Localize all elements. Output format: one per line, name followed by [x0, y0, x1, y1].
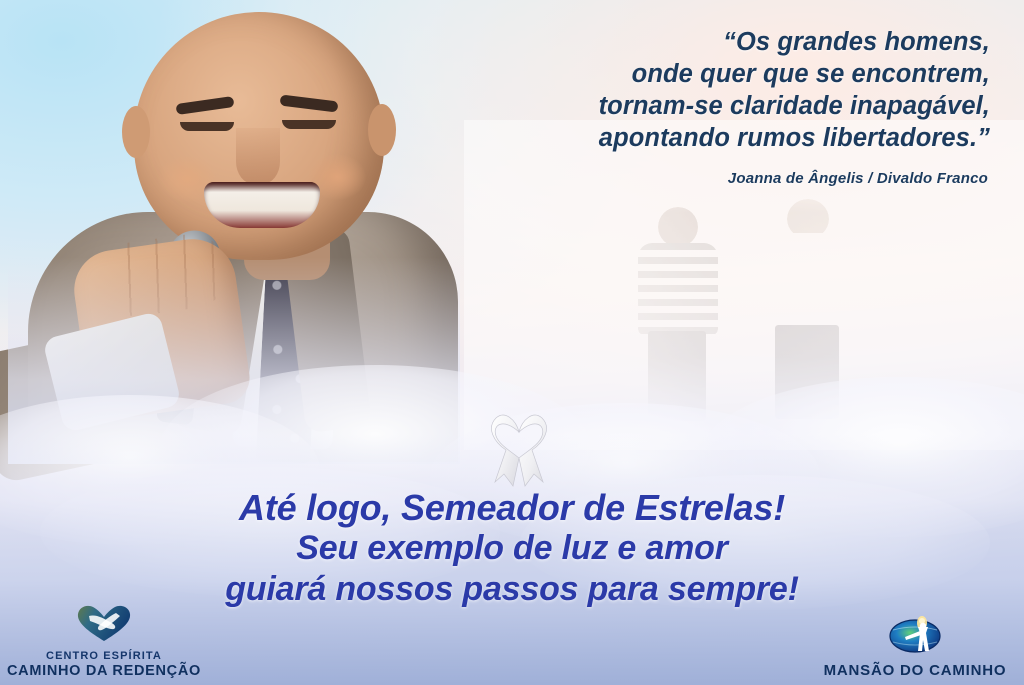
- headline-line-1: Até logo, Semeador de Estrelas!: [0, 487, 1024, 528]
- memorial-poster: “Os grandes homens, onde quer que se enc…: [0, 0, 1024, 685]
- quote-line-2: onde quer que se encontrem,: [632, 60, 990, 88]
- logo-left-line-2: CAMINHO DA REDENÇÃO: [4, 663, 204, 679]
- logo-right-line-1: MANSÃO DO CAMINHO: [810, 662, 1020, 679]
- quote-block: “Os grandes homens, onde quer que se enc…: [370, 26, 990, 154]
- quote-attribution: Joanna de Ângelis / Divaldo Franco: [368, 170, 988, 187]
- white-mourning-ribbon-icon: [482, 412, 556, 490]
- quote-line-1: “Os grandes homens,: [723, 28, 990, 56]
- logo-centro-espirita-caminho-da-redencao: CENTRO ESPÍRITA CAMINHO DA REDENÇÃO: [4, 604, 204, 679]
- quote-line-3: tornam-se claridade inapagável,: [599, 92, 990, 120]
- logo-mansao-do-caminho: MANSÃO DO CAMINHO: [810, 614, 1020, 679]
- quote-line-4: apontando rumos libertadores.”: [599, 124, 990, 152]
- logo-left-line-1: CENTRO ESPÍRITA: [4, 650, 204, 663]
- heart-hands-icon: [4, 604, 204, 647]
- globe-figure-torch-icon: [810, 614, 1020, 659]
- headline-block: Até logo, Semeador de Estrelas! Seu exem…: [0, 487, 1024, 610]
- headline-line-2: Seu exemplo de luz e amor: [0, 528, 1024, 569]
